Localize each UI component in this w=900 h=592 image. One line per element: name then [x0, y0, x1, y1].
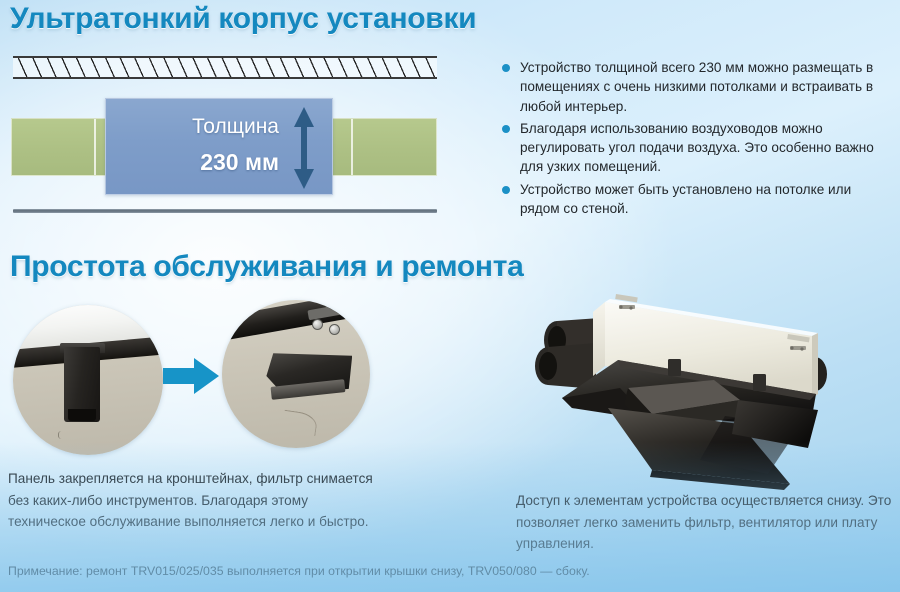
- bracket-closeup-photo: [13, 305, 163, 455]
- filter-latch-closeup-photo: [222, 300, 370, 448]
- ceiling-ventilation-unit-photo: [500, 288, 900, 492]
- slide-canvas: Ультратонкий корпус установки Толщина 23…: [0, 0, 900, 592]
- section-thin-heading: Ультратонкий корпус установки: [10, 2, 476, 36]
- section-service-heading: Простота обслуживания и ремонта: [10, 250, 524, 284]
- bullet-text: Устройство толщиной всего 230 мм можно р…: [520, 60, 873, 114]
- thin-body-bullet-list: Устройство толщиной всего 230 мм можно р…: [502, 58, 894, 221]
- list-item: Устройство может быть установлено на пот…: [502, 180, 894, 219]
- bullet-text: Благодаря использованию воздуховодов мож…: [520, 121, 874, 175]
- photo-screw-icon: [329, 324, 340, 335]
- duct-left-panel: [11, 118, 115, 176]
- duct-right-seam: [351, 119, 353, 175]
- ceiling-hatch-fill: [13, 58, 437, 77]
- list-item: Устройство толщиной всего 230 мм можно р…: [502, 58, 894, 116]
- thickness-callout-box: Толщина 230 мм: [105, 98, 333, 195]
- photo-wall-mark: [58, 431, 67, 439]
- bullet-dot-icon: [502, 186, 510, 194]
- list-item: Благодаря использованию воздуховодов мож…: [502, 119, 894, 177]
- duct-left-seam: [94, 119, 96, 175]
- bullet-dot-icon: [502, 64, 510, 72]
- service-right-paragraph: Доступ к элементам устройства осуществля…: [516, 490, 898, 555]
- footnote-text: Примечание: ремонт TRV015/025/035 выполн…: [8, 564, 590, 578]
- bullet-text: Устройство может быть установлено на пот…: [520, 182, 851, 216]
- floor-line: [13, 209, 437, 213]
- ceiling-hatch-graphic: [13, 55, 437, 80]
- ceiling-bottom-line: [13, 77, 437, 79]
- duct-right-panel: [332, 118, 437, 176]
- service-left-paragraph: Панель закрепляется на кронштейнах, филь…: [8, 468, 388, 533]
- photo-bracket-clip: [64, 347, 100, 422]
- bullet-dot-icon: [502, 125, 510, 133]
- transition-arrow-icon: [163, 357, 219, 395]
- thickness-label: Толщина: [124, 115, 279, 139]
- thickness-value: 230 мм: [124, 149, 279, 176]
- double-arrow-icon: [292, 107, 316, 189]
